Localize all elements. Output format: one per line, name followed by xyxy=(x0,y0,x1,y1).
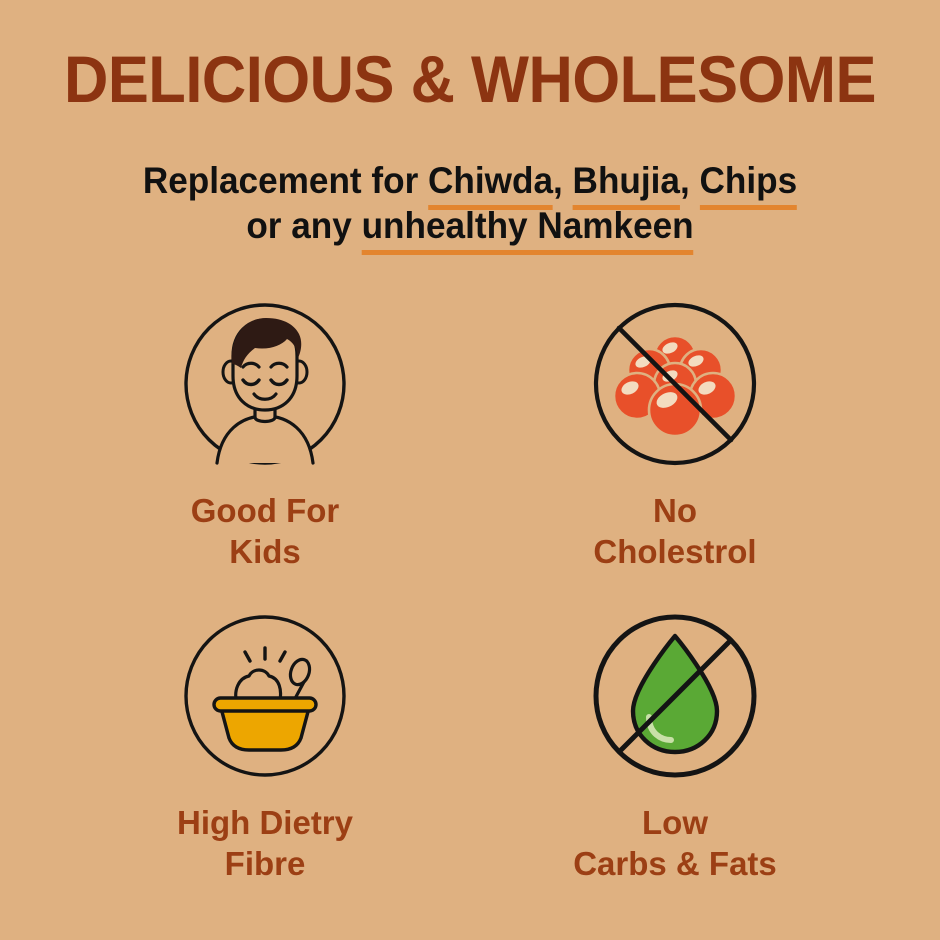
subtitle-line2-prefix: or any xyxy=(246,205,361,246)
subtitle-highlight-bhujia: Bhujia xyxy=(573,158,680,203)
subtitle-sep-1: , xyxy=(553,160,573,201)
feature-label-good-for-kids: Good For Kids xyxy=(191,490,339,572)
no-cholesterol-icon xyxy=(591,300,759,468)
subtitle-highlight-chips: Chips xyxy=(699,158,797,203)
subtitle-highlight-chiwda: Chiwda xyxy=(428,158,553,203)
page-title: DELICIOUS & WHOLESOME xyxy=(33,42,907,116)
subtitle-line-1: Replacement for Chiwda, Bhujia, Chips xyxy=(24,158,917,203)
boy-face-icon xyxy=(181,300,349,468)
subtitle: Replacement for Chiwda, Bhujia, Chips or… xyxy=(24,158,917,248)
feature-label-high-dietary-fibre: High Dietry Fibre xyxy=(177,802,353,884)
bowl-of-food-icon xyxy=(181,612,349,780)
feature-good-for-kids: Good For Kids xyxy=(60,300,470,572)
subtitle-line1-prefix: Replacement for xyxy=(143,160,428,201)
promo-poster: DELICIOUS & WHOLESOME Replacement for Ch… xyxy=(0,0,940,940)
feature-low-carbs-fats: Low Carbs & Fats xyxy=(470,612,880,884)
feature-grid: Good For Kids xyxy=(60,300,880,884)
no-fat-droplet-icon xyxy=(591,612,759,780)
feature-no-cholesterol: No Cholestrol xyxy=(470,300,880,572)
feature-label-no-cholesterol: No Cholestrol xyxy=(593,490,756,572)
feature-high-dietary-fibre: High Dietry Fibre xyxy=(60,612,470,884)
feature-label-low-carbs-fats: Low Carbs & Fats xyxy=(573,802,777,884)
subtitle-highlight-namkeen: unhealthy Namkeen xyxy=(362,203,694,248)
subtitle-sep-2: , xyxy=(680,160,700,201)
